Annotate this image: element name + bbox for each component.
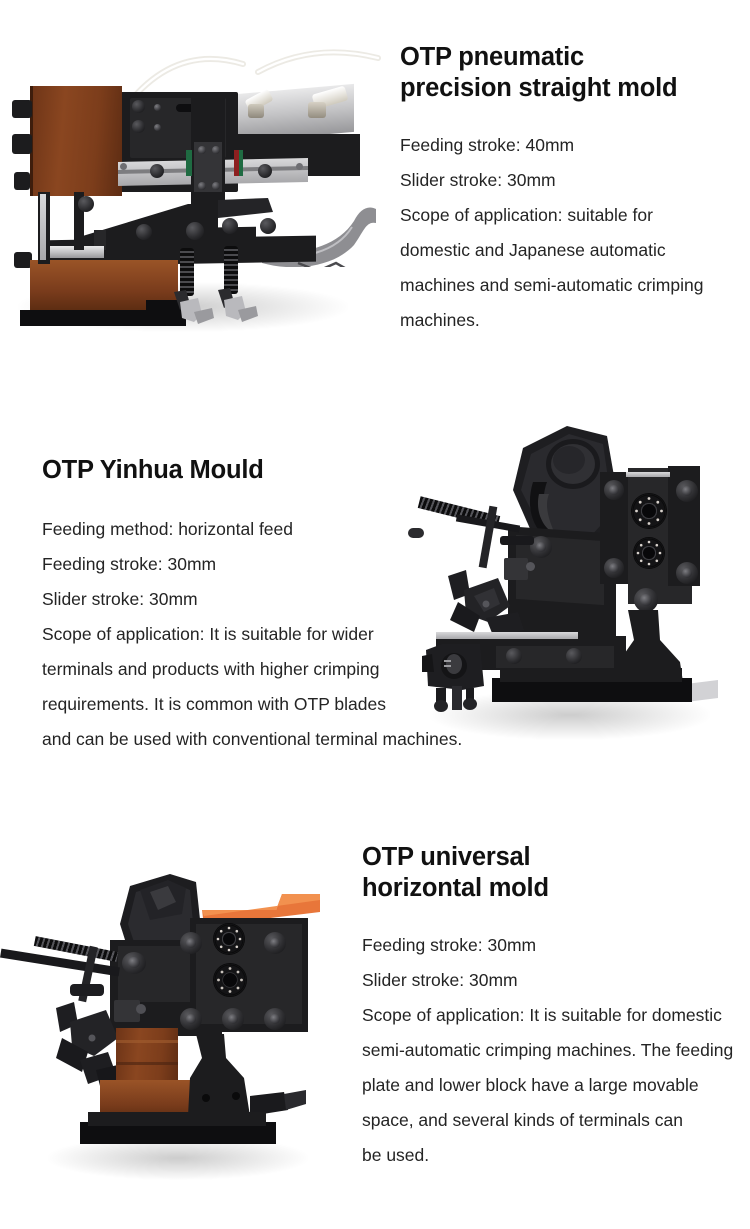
product-title: OTP pneumatic precision straight mold [400,42,740,104]
spec-slider-stroke: Slider stroke: 30mm [42,582,522,617]
spec-slider-stroke: Slider stroke: 30mm [400,163,740,198]
dial-ticks-upper [214,924,244,954]
text-column-yinhua: OTP Yinhua Mould Feeding method: horizon… [42,455,522,757]
product-section-universal: OTP universal horizontal mold Feeding st… [0,820,750,1229]
spec-feeding-method: Feeding method: horizontal feed [42,512,522,547]
product-title: OTP Yinhua Mould [42,455,522,486]
spec-feeding-stroke: Feeding stroke: 40mm [400,128,740,163]
product-specs: Feeding stroke: 30mm Slider stroke: 30mm [362,928,742,998]
product-image-pneumatic [8,42,378,322]
spec-feeding-stroke: Feeding stroke: 30mm [42,547,522,582]
scope-of-application: Scope of application: suitable for domes… [400,198,705,338]
clamp-feet-shape [168,288,278,338]
spec-slider-stroke: Slider stroke: 30mm [362,963,742,998]
product-specs: Feeding method: horizontal feed Feeding … [42,512,522,617]
spec-feeding-stroke: Feeding stroke: 30mm [362,928,742,963]
text-column-universal: OTP universal horizontal mold Feeding st… [362,842,742,1173]
product-section-yinhua: OTP Yinhua Mould Feeding method: horizon… [0,400,750,800]
product-title: OTP universal horizontal mold [362,842,742,904]
product-image-universal [18,840,338,1170]
text-column-pneumatic: OTP pneumatic precision straight mold Fe… [400,42,740,338]
dial-ticks-lower [634,538,664,568]
product-section-pneumatic: OTP pneumatic precision straight mold Fe… [0,0,750,390]
product-specs: Feeding stroke: 40mm Slider stroke: 30mm… [400,128,740,338]
scope-of-application: Scope of application: It is suitable for… [362,998,740,1173]
dial-ticks-lower [214,964,246,996]
dial-ticks-upper [632,494,666,528]
scope-of-application: Scope of application: It is suitable for… [42,617,522,757]
